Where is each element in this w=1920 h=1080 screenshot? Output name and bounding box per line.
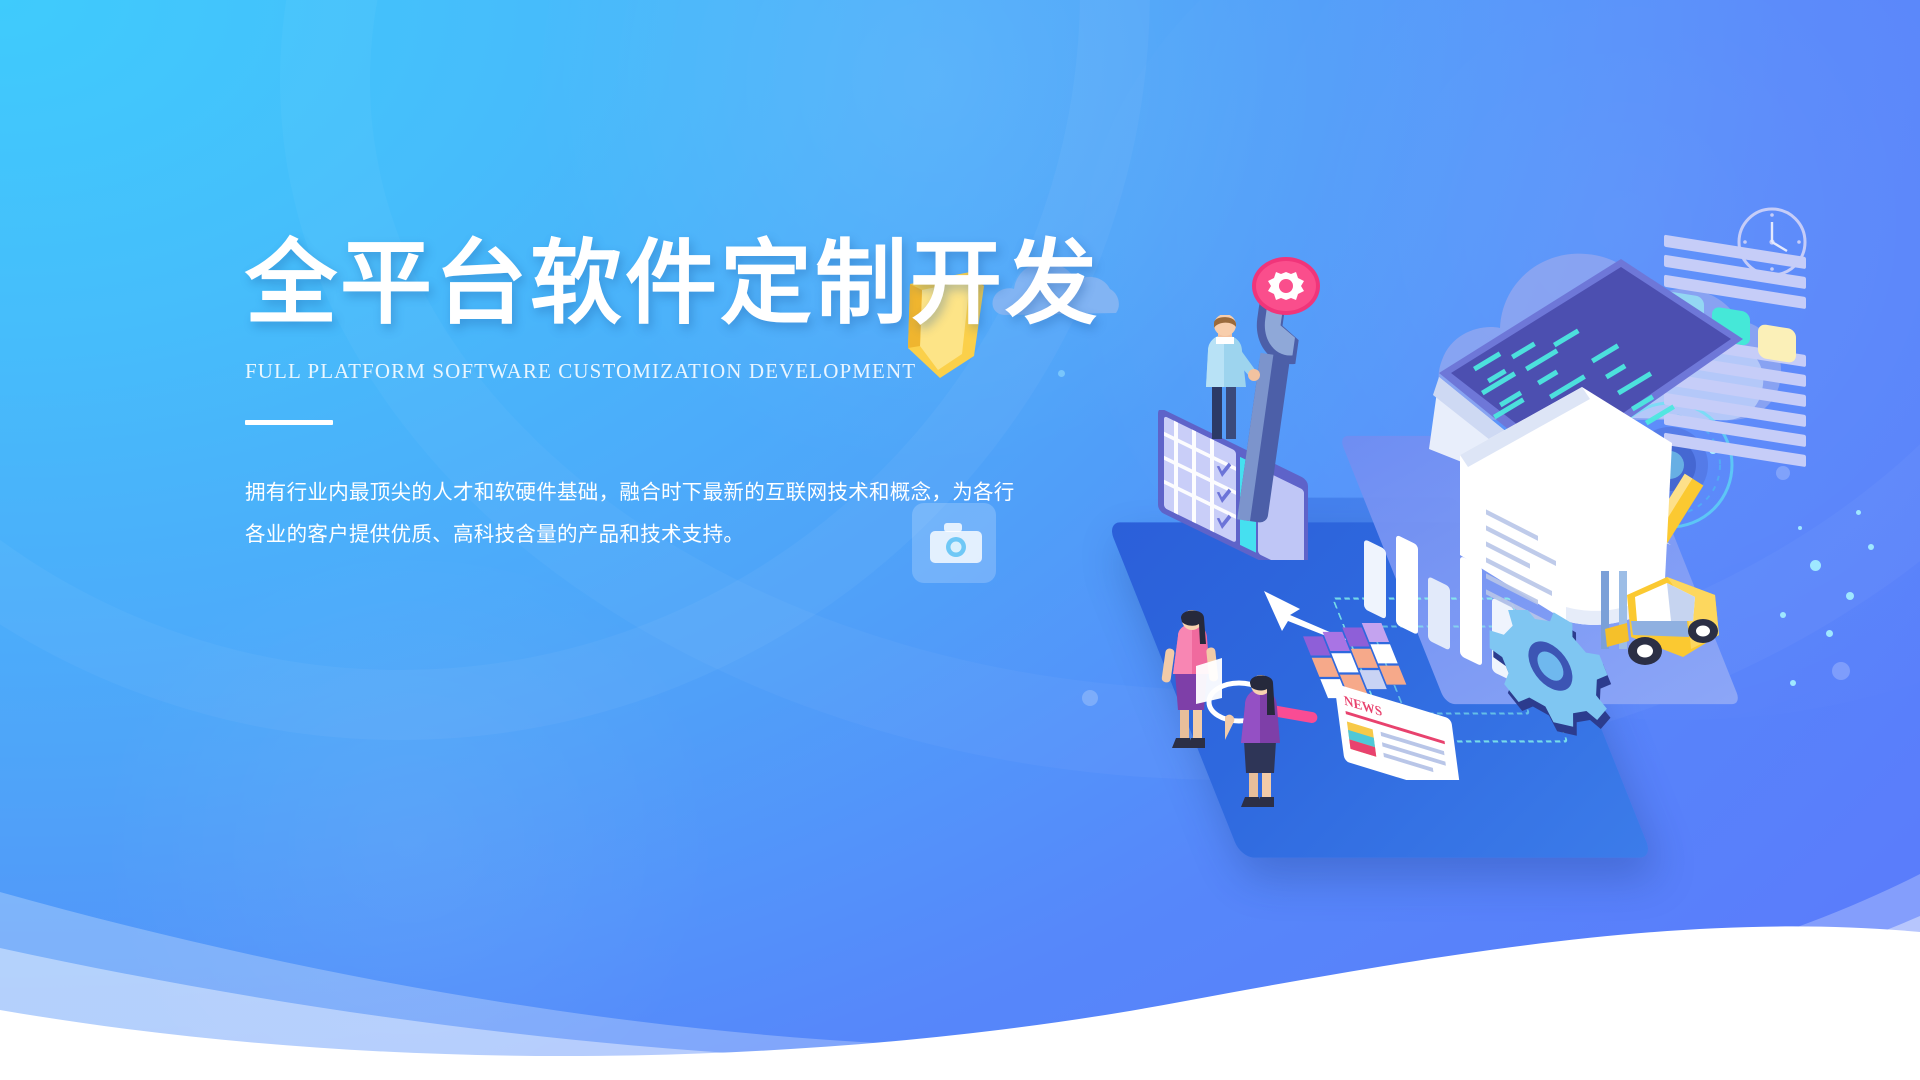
gear-badge-icon [1252, 257, 1320, 315]
decorative-dot [1798, 526, 1802, 530]
bottom-wave-decoration [0, 820, 1920, 1080]
forklift-icon [1575, 565, 1745, 695]
hero-copy: 全平台软件定制开发 FULL PLATFORM SOFTWARE CUSTOMI… [245, 236, 1075, 556]
decorative-dot [1810, 560, 1821, 571]
decorative-dot [1776, 466, 1790, 480]
page-title: 全平台软件定制开发 [245, 236, 1075, 333]
person-woman-icon [1160, 610, 1222, 755]
decorative-dot [1856, 510, 1861, 515]
decorative-dot [1868, 544, 1874, 550]
decorative-dot [1846, 592, 1854, 600]
decorative-dot [1832, 662, 1850, 680]
person-man-icon [1190, 315, 1260, 445]
decorative-dot [1082, 690, 1098, 706]
decorative-dot [1790, 680, 1796, 686]
person-woman-icon [1225, 665, 1291, 815]
decorative-dot [1780, 612, 1786, 618]
news-sheet-icon: NEWS [1330, 680, 1460, 780]
page-description: 拥有行业内最顶尖的人才和软硬件基础，融合时下最新的互联网技术和概念，为各行各业的… [245, 472, 1035, 556]
hero-illustration: NEWS [1020, 210, 1920, 870]
title-divider [245, 420, 333, 425]
decorative-dot [1826, 630, 1833, 637]
hero-banner: NEWS 全平台软件定制开发 F [0, 0, 1920, 1080]
page-subtitle: FULL PLATFORM SOFTWARE CUSTOMIZATION DEV… [245, 359, 1075, 384]
